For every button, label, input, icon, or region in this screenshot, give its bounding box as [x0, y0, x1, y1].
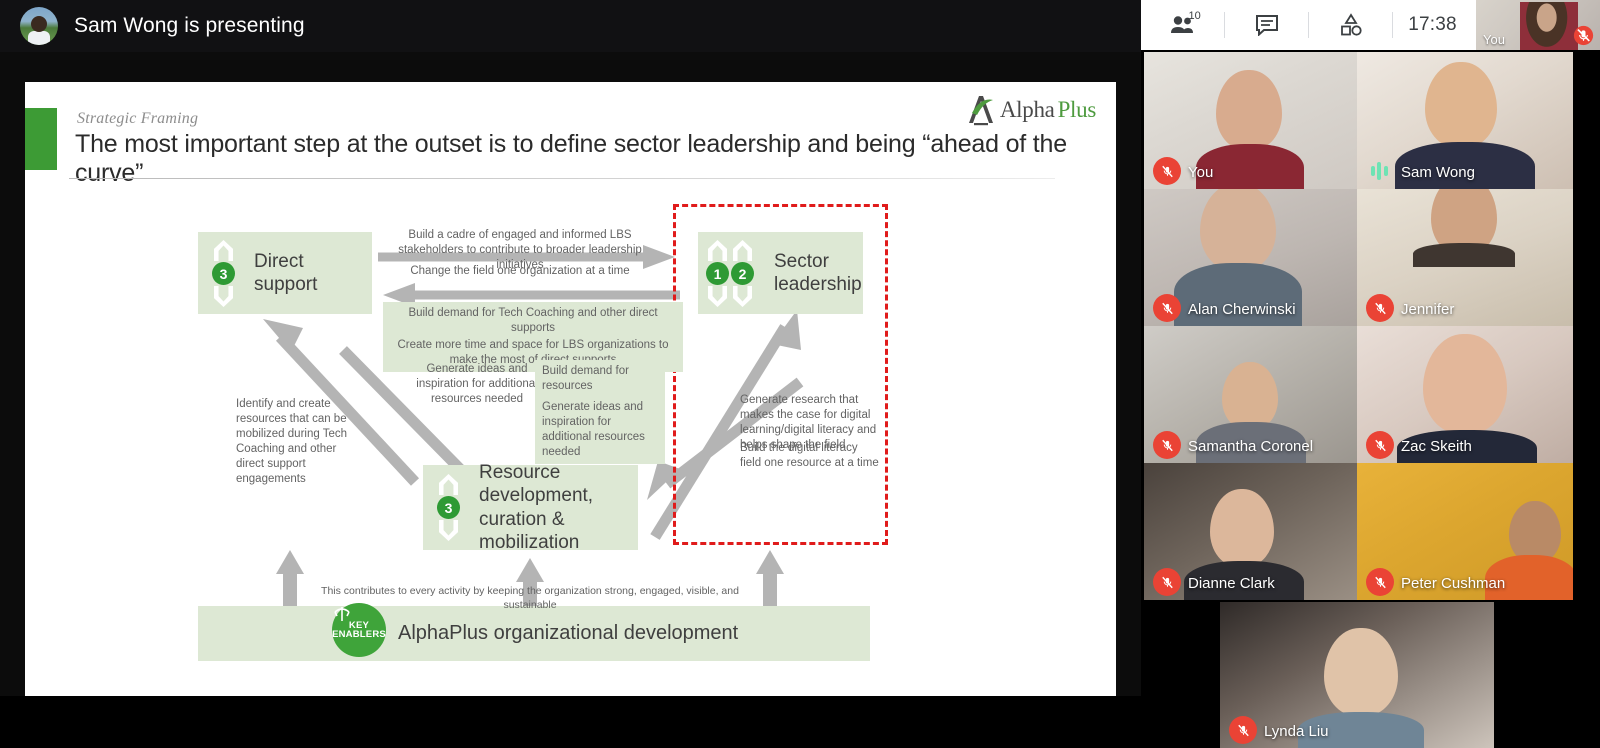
note-right-2: Build the digital literacy field one res… — [740, 441, 880, 471]
note-bottom-enablers: This contributes to every activity by ke… — [305, 585, 755, 612]
meet-toolbar[interactable]: 10 17:38 — [1141, 0, 1476, 50]
box-sector-leadership[interactable]: 1 2 Sector leadership — [698, 232, 863, 314]
avatar-body — [1413, 243, 1515, 267]
box-direct-support-label: Direct support — [254, 250, 372, 296]
mic-off-icon — [1573, 25, 1594, 46]
presenter-status-text: Sam Wong is presenting — [74, 14, 305, 38]
avatar — [1216, 70, 1282, 150]
speaking-indicator — [1366, 158, 1392, 184]
mic-off-badge — [1366, 431, 1394, 459]
avatar — [1324, 628, 1398, 716]
participant-tile[interactable]: You — [1144, 52, 1357, 189]
participant-name: Jennifer — [1401, 301, 1454, 318]
chevron-down-icon — [733, 286, 752, 307]
mic-off-badge — [1153, 157, 1181, 185]
chat-button[interactable] — [1225, 0, 1308, 50]
chevron-up-icon — [708, 240, 727, 261]
participant-name: Dianne Clark — [1188, 575, 1275, 592]
participant-tile[interactable]: Dianne Clark — [1144, 463, 1357, 600]
participant-name: Sam Wong — [1401, 164, 1475, 181]
badge-number-3: 3 — [437, 496, 460, 519]
box-resource-development[interactable]: 3 Resource development, curation & mobil… — [423, 465, 638, 550]
chevron-down-icon — [708, 286, 727, 307]
participants-button[interactable]: 10 — [1141, 0, 1224, 50]
meeting-clock: 17:38 — [1408, 14, 1461, 36]
mic-off-icon — [1236, 723, 1251, 738]
mic-off-icon — [1373, 301, 1388, 316]
chevron-down-icon — [439, 520, 458, 541]
note-return-arrow-1: Build demand for Tech Coaching and other… — [390, 306, 676, 336]
sector-label-line-1: Sector — [774, 250, 862, 273]
chevron-up-icon — [214, 240, 233, 261]
avatar — [1425, 62, 1497, 148]
clock-area: 17:38 — [1393, 0, 1476, 50]
note-center-shaded: Build demand for resources Generate idea… — [535, 360, 665, 464]
arrow-enabler-2 — [756, 550, 784, 612]
self-view-thumbnail[interactable]: You — [1476, 0, 1600, 50]
chat-icon — [1255, 14, 1279, 36]
participant-rail: 10 17:38 — [1141, 0, 1600, 748]
note-top-arrow-2: Change the field one organization at a t… — [380, 264, 660, 279]
arrow-enabler-1 — [276, 550, 304, 612]
chevron-up-icon — [733, 240, 752, 261]
avatar — [1222, 362, 1278, 430]
activities-shapes-icon — [1339, 13, 1363, 37]
presenter-avatar — [20, 7, 58, 45]
meet-window: Sam Wong is presenting Strategic Framing… — [0, 0, 1600, 748]
mic-off-icon — [1373, 575, 1388, 590]
participant-name: Lynda Liu — [1264, 723, 1329, 740]
resource-label-line-1: Resource development, — [479, 461, 638, 507]
avatar — [1200, 189, 1276, 271]
participant-tile[interactable]: Samantha Coronel — [1144, 326, 1357, 463]
direct-support-badges: 3 — [198, 232, 254, 314]
avatar — [1423, 334, 1507, 434]
strategy-diagram: 3 Direct support 1 2 — [25, 82, 1116, 696]
mic-off-badge — [1153, 431, 1181, 459]
box-org-development[interactable]: AlphaPlus organizational development — [198, 606, 870, 661]
mic-off-badge — [1366, 568, 1394, 596]
participant-tile[interactable]: Lynda Liu — [1220, 602, 1494, 748]
mic-off-icon — [1373, 438, 1388, 453]
participant-name: Alan Cherwinski — [1188, 301, 1296, 318]
note-center-shaded-2: Generate ideas and inspiration for addit… — [542, 400, 658, 460]
mic-off-icon — [1160, 575, 1175, 590]
self-view-label: You — [1483, 32, 1505, 47]
box-org-development-label: AlphaPlus organizational development — [398, 621, 738, 645]
participant-name: Zac Skeith — [1401, 438, 1472, 455]
participant-name: You — [1188, 164, 1213, 181]
badge-number-1: 1 — [706, 262, 729, 285]
participant-tile[interactable]: Jennifer — [1357, 189, 1573, 326]
badge-number-3: 3 — [212, 262, 235, 285]
participant-name: Samantha Coronel — [1188, 438, 1313, 455]
box-resource-development-label: Resource development, curation & mobiliz… — [479, 461, 638, 554]
avatar — [1509, 501, 1561, 563]
self-view-video — [1520, 2, 1578, 50]
presenter-banner: Sam Wong is presenting — [0, 0, 1141, 52]
chevron-up-icon — [439, 474, 458, 495]
badge-number-2: 2 — [731, 262, 754, 285]
avatar — [1210, 489, 1274, 567]
key-enablers-line-2: ENABLERS — [332, 630, 386, 640]
sector-leadership-badges: 1 2 — [698, 232, 774, 314]
resource-label-line-2: curation & mobilization — [479, 508, 638, 554]
mic-off-badge — [1366, 294, 1394, 322]
note-center-shaded-1: Build demand for resources — [542, 364, 658, 394]
participant-tile[interactable]: Peter Cushman — [1357, 463, 1573, 600]
mic-off-icon — [1160, 164, 1175, 179]
presentation-stage[interactable]: Sam Wong is presenting Strategic Framing… — [0, 0, 1141, 748]
participants-count: 10 — [1189, 10, 1201, 22]
activities-button[interactable] — [1309, 0, 1392, 50]
mic-off-badge — [1153, 568, 1181, 596]
mic-off-badge — [1153, 294, 1181, 322]
mic-off-badge — [1229, 716, 1257, 744]
shared-slide[interactable]: Strategic Framing The most important ste… — [25, 82, 1116, 696]
participant-tile[interactable]: Sam Wong — [1357, 52, 1573, 189]
stage-bottom-bar — [0, 696, 1141, 748]
participant-tile[interactable]: Zac Skeith — [1357, 326, 1573, 463]
participant-tile[interactable]: Alan Cherwinski — [1144, 189, 1357, 326]
mic-off-icon — [1160, 301, 1175, 316]
mic-off-icon — [1160, 438, 1175, 453]
box-sector-leadership-label: Sector leadership — [774, 250, 862, 296]
note-left-lower: Identify and create resources that can b… — [236, 397, 366, 487]
resource-development-badges: 3 — [423, 465, 479, 550]
box-direct-support[interactable]: 3 Direct support — [198, 232, 372, 314]
note-left-mid: Generate ideas and inspiration for addit… — [412, 362, 542, 407]
chevron-down-icon — [214, 286, 233, 307]
participant-name: Peter Cushman — [1401, 575, 1505, 592]
sector-label-line-2: leadership — [774, 273, 862, 296]
